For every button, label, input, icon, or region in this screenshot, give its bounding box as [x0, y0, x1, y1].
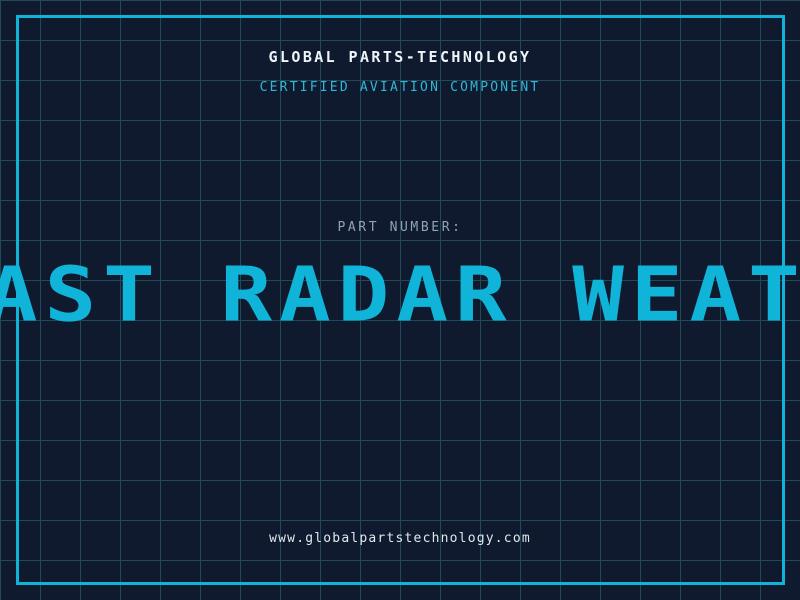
website-url: www.globalpartstechnology.com — [0, 531, 800, 546]
card-content: GLOBAL PARTS-TECHNOLOGY CERTIFIED AVIATI… — [0, 0, 800, 600]
part-number-value: PAST RADAR WEATHER — [0, 258, 800, 333]
blueprint-part-card: GLOBAL PARTS-TECHNOLOGY CERTIFIED AVIATI… — [0, 0, 800, 600]
certification-line: CERTIFIED AVIATION COMPONENT — [0, 80, 800, 95]
part-number-value-container: PAST RADAR WEATHER — [0, 258, 800, 344]
part-number-label: PART NUMBER: — [0, 220, 800, 235]
company-name: GLOBAL PARTS-TECHNOLOGY — [0, 48, 800, 66]
